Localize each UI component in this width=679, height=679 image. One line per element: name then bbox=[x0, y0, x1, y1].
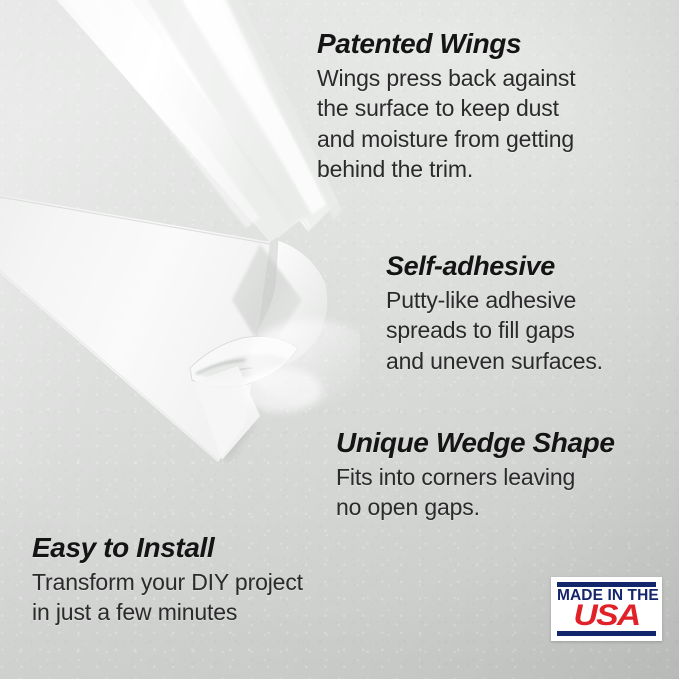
feature-body-patented-wings: Wings press back against the surface to … bbox=[317, 63, 575, 185]
feature-heading-easy-to-install: Easy to Install bbox=[32, 533, 303, 563]
feature-heading-unique-wedge-shape: Unique Wedge Shape bbox=[336, 428, 615, 458]
feature-self-adhesive: Self-adhesive Putty-like adhesive spread… bbox=[386, 252, 603, 376]
badge-usa-text: USA bbox=[551, 602, 662, 630]
feature-patented-wings: Patented Wings Wings press back against … bbox=[317, 29, 575, 185]
feature-body-unique-wedge-shape: Fits into corners leaving no open gaps. bbox=[336, 462, 615, 523]
feature-easy-to-install: Easy to Install Transform your DIY proje… bbox=[32, 533, 303, 628]
infographic-canvas: Patented Wings Wings press back against … bbox=[0, 0, 679, 679]
made-in-the-usa-badge: MADE IN THE USA bbox=[551, 577, 662, 641]
feature-heading-self-adhesive: Self-adhesive bbox=[386, 252, 603, 281]
feature-body-self-adhesive: Putty-like adhesive spreads to fill gaps… bbox=[386, 285, 603, 377]
feature-unique-wedge-shape: Unique Wedge Shape Fits into corners lea… bbox=[336, 428, 615, 523]
feature-body-easy-to-install: Transform your DIY project in just a few… bbox=[32, 567, 303, 628]
feature-heading-patented-wings: Patented Wings bbox=[317, 29, 575, 59]
product-trim-image bbox=[0, 0, 360, 470]
